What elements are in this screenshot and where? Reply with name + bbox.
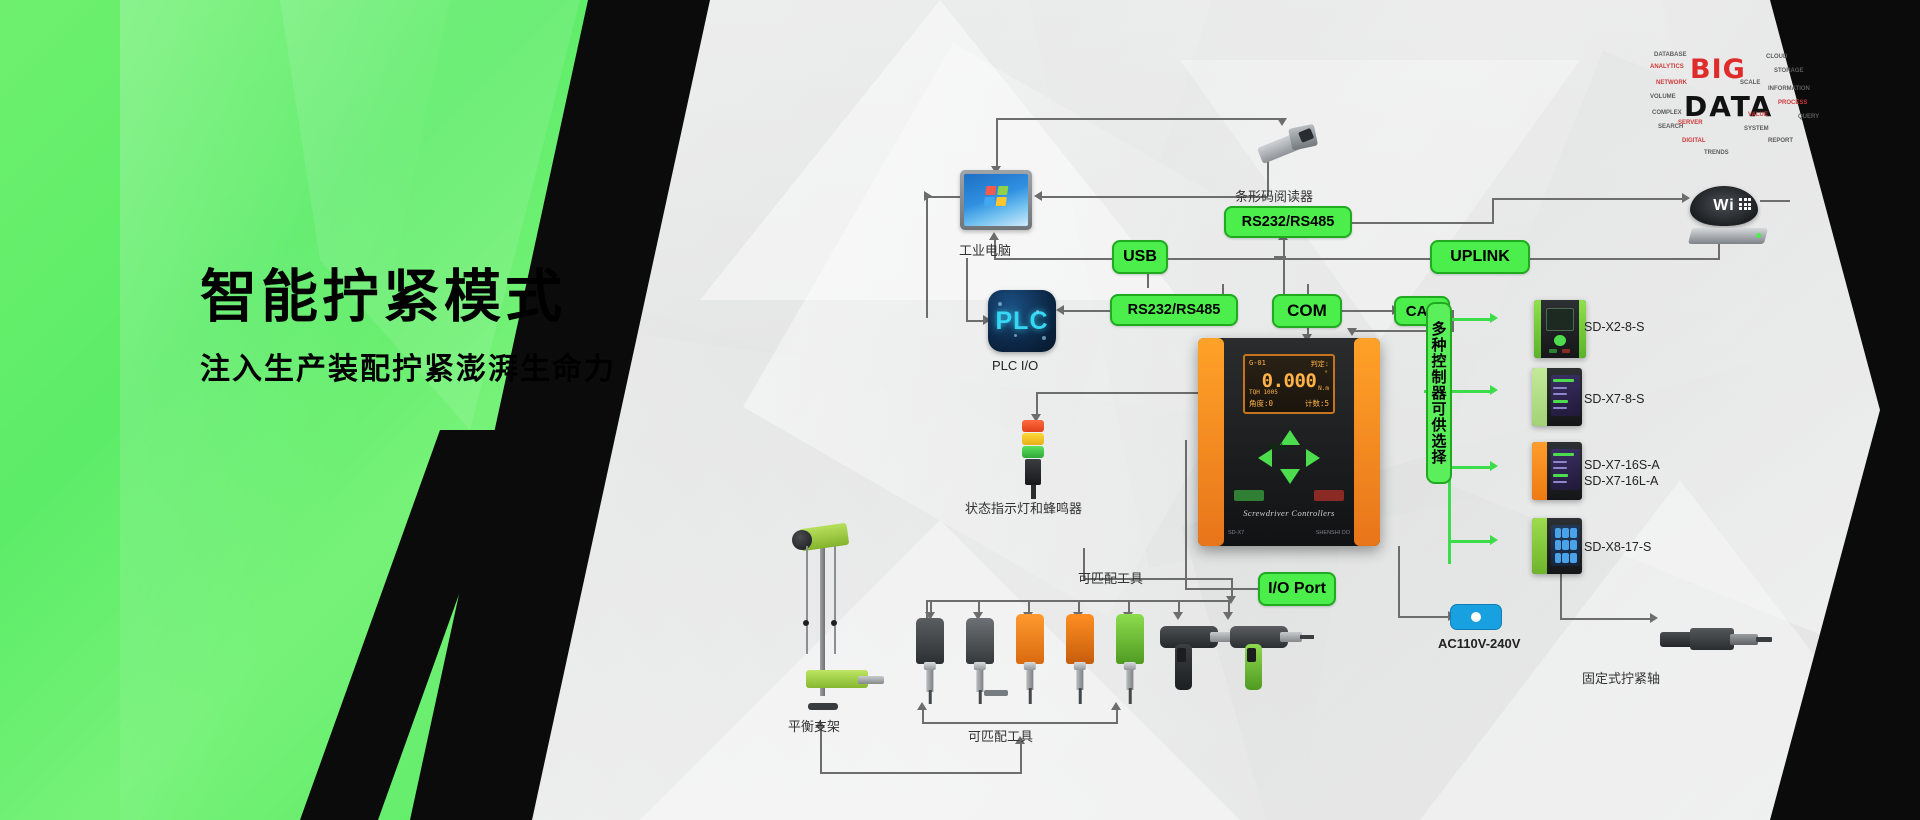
stand-base — [808, 703, 838, 710]
label-sd-x7-8: SD-X7-8-S — [1584, 392, 1644, 406]
device-sd-x8-17 — [1532, 518, 1582, 574]
sd-x7-16-screen — [1551, 449, 1580, 490]
badge-com[interactable]: COM — [1272, 294, 1342, 328]
label-balance-stand: 平衡支架 — [788, 716, 840, 735]
arrow-head-green — [1490, 535, 1498, 545]
left-green-panel — [0, 0, 700, 820]
tool-shaft — [926, 670, 933, 692]
arrow-head — [1277, 118, 1287, 126]
connector-line — [1185, 440, 1187, 588]
lcd-count: 计数:5 — [1305, 398, 1329, 409]
connector-line-green — [1448, 390, 1492, 393]
wifi-icon: Wi — [1690, 186, 1758, 226]
tool-screwdriver-2 — [966, 618, 994, 704]
tool-bit — [929, 690, 932, 704]
wordcloud-word: TRENDS — [1704, 150, 1729, 156]
wifi-dot-grid — [1739, 198, 1751, 210]
connector-line — [1452, 310, 1454, 332]
connector-line — [1020, 742, 1022, 772]
controller-footer-left: SD-X7 — [1228, 530, 1244, 536]
connector-line — [926, 196, 928, 318]
connector-line — [1036, 392, 1198, 394]
lcd-unit-nm: N.m — [1318, 385, 1329, 392]
controller-footer-right: SHENSHI DO — [1316, 530, 1350, 536]
label-barcode-reader: 条形码阅读器 — [1235, 186, 1313, 205]
wordcloud-word: CLOUD — [1766, 54, 1787, 60]
tool-collar — [1074, 662, 1086, 670]
tool-screwdriver-5 — [1116, 614, 1144, 704]
bigdata-title-data: DATA — [1684, 90, 1773, 123]
connector-line-green — [1448, 540, 1492, 543]
tower-base — [1025, 459, 1041, 485]
badge-multiple-controllers-note: 多种控制器可供选择 — [1426, 302, 1452, 484]
router-icon — [1688, 228, 1768, 244]
stand-wire — [834, 546, 836, 624]
screen-bar — [1553, 453, 1573, 456]
background-facet — [700, 0, 1180, 300]
controller-brand-text: Screwdriver Controllers — [1243, 508, 1334, 518]
tool-grip — [1016, 614, 1044, 664]
lcd-angle: 角度:0 — [1249, 398, 1273, 409]
sd-x7-16-side-panel — [1532, 442, 1547, 500]
connector-line — [1062, 310, 1112, 312]
label-status-light: 状态指示灯和蜂鸣器 — [965, 498, 1082, 517]
stand-reel — [792, 530, 812, 550]
label-power: AC110V-240V — [1438, 636, 1520, 651]
wordcloud-word: SERVER — [1678, 120, 1703, 126]
connector-line — [1398, 546, 1400, 616]
wordcloud-word: VALUE — [1748, 112, 1768, 118]
tool-screwdriver-1 — [916, 618, 944, 704]
tool-bit — [1029, 688, 1032, 704]
wordcloud-word: REPORT — [1768, 138, 1793, 144]
page-title: 智能拧紧模式 — [200, 268, 760, 328]
pistol-nose — [1280, 632, 1302, 642]
stand-wire — [806, 626, 808, 654]
plc-icon: PLC — [988, 290, 1056, 352]
pistol-trigger[interactable] — [1177, 648, 1186, 662]
connector-line — [922, 708, 924, 722]
connector-line — [1492, 198, 1494, 222]
wifi-text: Wi — [1713, 197, 1734, 215]
arrow-head — [1650, 613, 1658, 623]
label-sd-x2: SD-X2-8-S — [1584, 320, 1644, 334]
wordcloud-word: INFORMATION — [1768, 86, 1810, 92]
lcd-program-id: G-01 — [1249, 359, 1266, 367]
wordcloud-word: ANALYTICS — [1650, 64, 1684, 70]
tool-shaft — [1126, 670, 1133, 690]
tower-pole — [1031, 485, 1036, 499]
arrow-head — [924, 191, 932, 201]
controller-status-buttons — [1234, 490, 1344, 501]
label-industrial-pc: 工业电脑 — [959, 240, 1011, 259]
connector-line — [820, 772, 1022, 774]
wordcloud-word: PROCESS — [1778, 100, 1807, 106]
tool-pistol-driver-1 — [1160, 626, 1218, 698]
keypad-down-button[interactable] — [1280, 469, 1300, 484]
arrow-head-green — [1490, 461, 1498, 471]
tool-collar — [974, 662, 986, 670]
badge-rs232-rs485-left[interactable]: RS232/RS485 — [1110, 294, 1238, 326]
tool-screwdriver-3 — [1016, 614, 1044, 704]
tool-bit — [1079, 688, 1082, 704]
banner-canvas: 智能拧紧模式 注入生产装配拧紧澎湃生命力 — [0, 0, 1920, 820]
badge-io-port[interactable]: I/O Port — [1258, 572, 1336, 606]
keypad-left-button[interactable] — [1258, 449, 1272, 467]
sd-x2-navpad — [1554, 335, 1566, 347]
connector-line — [922, 722, 1118, 724]
connector-line — [1116, 708, 1118, 722]
tool-grip — [966, 618, 994, 664]
tool-shaft — [1076, 670, 1083, 690]
device-sd-x7-16 — [1532, 442, 1582, 500]
sd-x8-17-touch-screen — [1551, 525, 1580, 566]
controller-ng-button[interactable] — [1314, 490, 1344, 501]
wordcloud-word: COMPLEX — [1652, 110, 1682, 116]
spindle-bit — [1756, 637, 1772, 642]
plc-text: PLC — [996, 307, 1049, 336]
plc-bubble — [1014, 334, 1017, 337]
status-tower-light-icon — [1022, 420, 1044, 490]
badge-uplink[interactable]: UPLINK — [1430, 240, 1530, 274]
connector-line — [1150, 258, 1430, 260]
tool-collar — [1124, 662, 1136, 670]
arrow-head — [1682, 193, 1690, 203]
controller-keypad[interactable]: Mode — [1258, 430, 1320, 484]
lcd-unit-degree: ° — [1324, 370, 1328, 377]
arrow-head — [1223, 612, 1233, 620]
connector-line-green — [1448, 466, 1492, 469]
sd-x2-ng-button — [1562, 349, 1570, 353]
connector-line — [1760, 200, 1790, 202]
page-subtitle: 注入生产装配拧紧澎湃生命力 — [200, 344, 760, 388]
sd-x2-left-rail — [1534, 300, 1541, 358]
sd-x7-8-unit — [1532, 368, 1582, 426]
router-led — [1756, 233, 1762, 238]
arrow-head-green — [1490, 385, 1498, 395]
sd-x7-8-screen — [1551, 375, 1580, 416]
pistol-bit — [1300, 635, 1314, 639]
screen-line — [1553, 393, 1567, 395]
pistol-nose — [1210, 632, 1232, 642]
wordcloud-word: NETWORK — [1656, 80, 1687, 86]
arrow-head — [1173, 612, 1183, 620]
screen-bar — [1553, 474, 1568, 477]
connector-line-green — [1448, 318, 1492, 321]
tool-collar — [924, 662, 936, 670]
tool-bit — [1129, 688, 1132, 704]
stand-wire — [806, 546, 808, 624]
industrial-pc-icon — [960, 170, 1032, 230]
arrow-head — [989, 232, 999, 240]
spindle-body — [1690, 628, 1734, 650]
tool-shaft — [976, 670, 983, 692]
tool-pistol-driver-2 — [1230, 626, 1288, 698]
screen-line — [1553, 407, 1567, 409]
screen-line — [1553, 461, 1567, 463]
tool-grip — [916, 618, 944, 664]
badge-usb[interactable]: USB — [1112, 240, 1168, 274]
controller-left-rail — [1198, 338, 1224, 546]
connector-line — [966, 258, 968, 320]
headline-block: 智能拧紧模式 注入生产装配拧紧澎湃生命力 — [200, 268, 760, 388]
connector-line — [1492, 198, 1684, 200]
windows-logo-icon — [984, 186, 1009, 206]
wordcloud-word: DIGITAL — [1682, 138, 1706, 144]
arrow-head — [1347, 328, 1357, 336]
pistol-trigger[interactable] — [1247, 648, 1256, 662]
sd-x2-display — [1546, 308, 1573, 331]
tool-collar — [1024, 662, 1036, 670]
label-plc-io: PLC I/O — [992, 358, 1038, 373]
tool-screwdriver-4 — [1066, 614, 1094, 704]
connector-line — [1560, 618, 1652, 620]
spindle-motor — [1660, 632, 1694, 647]
arrow-head — [1034, 191, 1042, 201]
screen-line — [1553, 467, 1567, 469]
wordcloud-word: SYSTEM — [1744, 126, 1769, 132]
device-sd-x2 — [1534, 300, 1586, 358]
stand-wire — [834, 626, 836, 654]
lcd-judge-label: 判定: — [1311, 359, 1329, 369]
label-matched-tools-bottom: 可匹配工具 — [968, 726, 1033, 745]
wordcloud-word: STORAGE — [1774, 68, 1804, 74]
pc-screen — [964, 174, 1028, 226]
sd-x8-17-side-panel — [1532, 518, 1547, 574]
label-sd-x7-16l: SD-X7-16L-A — [1584, 474, 1658, 488]
tower-red-segment — [1022, 420, 1044, 432]
sd-x7-8-side-panel — [1532, 368, 1547, 426]
device-sd-x7-8 — [1532, 368, 1582, 426]
plc-bubble — [1036, 310, 1039, 313]
tower-yellow-segment — [1022, 433, 1044, 445]
screen-line — [1553, 481, 1567, 483]
controller-right-rail — [1354, 338, 1380, 546]
connector-line — [1398, 616, 1450, 618]
label-matched-tools-top: 可匹配工具 — [1078, 568, 1143, 587]
wordcloud-word: DATABASE — [1654, 52, 1686, 58]
sd-x2-ok-button — [1549, 349, 1557, 353]
arrow-head — [1056, 305, 1064, 315]
connector-line — [1185, 588, 1261, 590]
stand-arm-extension — [858, 676, 884, 684]
connector-line — [996, 118, 1282, 120]
tool-shaft — [1026, 670, 1033, 690]
bigdata-title-big: BIG — [1690, 54, 1746, 85]
wordcloud-word: QUERY — [1798, 114, 1819, 120]
plc-bubble — [1042, 336, 1046, 340]
connector-line — [994, 258, 1114, 260]
lcd-torque-code: TQH 1005 — [1249, 389, 1278, 396]
connector-line — [1040, 196, 1268, 198]
arrow-head — [1226, 596, 1236, 604]
sd-x2-unit — [1534, 300, 1586, 358]
connector-line — [1342, 310, 1394, 312]
badge-power-icon[interactable] — [1450, 604, 1502, 630]
screen-bar — [1553, 379, 1573, 382]
label-fixed-spindle: 固定式拧紧轴 — [1582, 668, 1660, 687]
keypad-right-button[interactable] — [1306, 449, 1320, 467]
main-controller-device: G-01 判定: 0.000 ° N.m TQH 1005 角度:0 计数:5 … — [1198, 338, 1380, 546]
big-data-wordcloud: BIG DATA DATABASE ANALYTICS CLOUD STORAG… — [1648, 50, 1838, 170]
screen-line — [1553, 387, 1567, 389]
controller-ok-button[interactable] — [1234, 490, 1264, 501]
balance-stand-icon — [772, 520, 882, 710]
tool-bit — [979, 690, 982, 704]
controller-lcd-screen: G-01 判定: 0.000 ° N.m TQH 1005 角度:0 计数:5 — [1243, 354, 1335, 414]
tool-grip — [1066, 614, 1094, 664]
tower-green-segment — [1022, 446, 1044, 458]
sd-x8-17-unit — [1532, 518, 1582, 574]
wordcloud-word: SCALE — [1740, 80, 1760, 86]
badge-rs232-rs485-right[interactable]: RS232/RS485 — [1224, 206, 1352, 238]
wordcloud-word: VOLUME — [1650, 94, 1676, 100]
plc-bubble — [998, 302, 1002, 306]
tool-grip — [1116, 614, 1144, 664]
label-sd-x7-16s: SD-X7-16S-A — [1584, 458, 1660, 472]
power-dot — [1471, 612, 1481, 622]
arrow-head-green — [1490, 313, 1498, 323]
sd-x7-16-unit — [1532, 442, 1582, 500]
label-sd-x8-17: SD-X8-17-S — [1584, 540, 1651, 554]
screen-bar — [1553, 400, 1568, 403]
fixed-spindle-icon — [1660, 622, 1770, 656]
spindle-chuck — [1730, 634, 1758, 645]
